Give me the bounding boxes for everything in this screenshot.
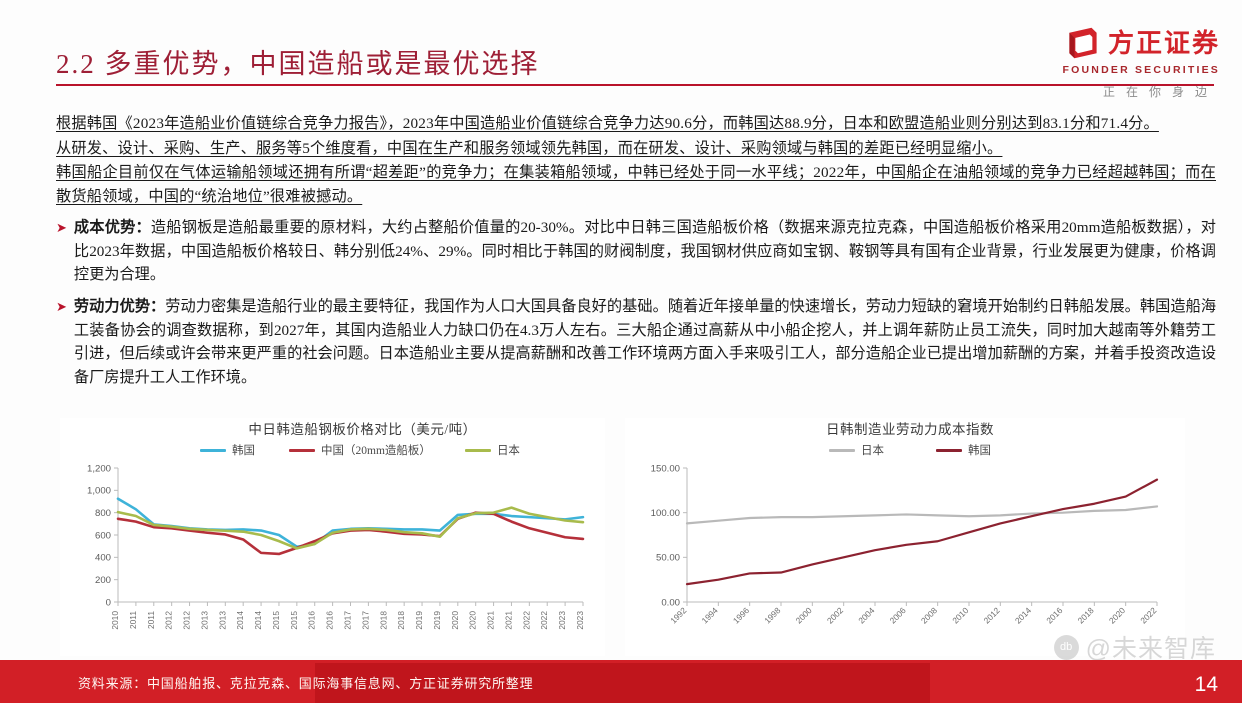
chart-shipplate-svg: 02004006008001,0001,20020102011201120122… bbox=[60, 462, 605, 652]
svg-text:2019: 2019 bbox=[414, 611, 424, 630]
chart-shipplate-legend: 韩国 中国（20mm造船板） 日本 bbox=[60, 442, 605, 458]
svg-text:150.00: 150.00 bbox=[651, 463, 680, 474]
bullet-labor-advantage-lead: 劳动力优势： bbox=[74, 298, 165, 315]
legend-swatch-japan bbox=[465, 449, 491, 452]
bullet-arrow-icon-2: ➤ bbox=[56, 295, 67, 389]
svg-text:2016: 2016 bbox=[307, 611, 317, 630]
svg-text:2023: 2023 bbox=[557, 611, 567, 630]
svg-text:1,000: 1,000 bbox=[87, 486, 111, 497]
founder-logo-icon bbox=[1066, 26, 1100, 60]
svg-text:2015: 2015 bbox=[271, 611, 281, 630]
legend-swatch-korea-labor bbox=[936, 449, 962, 452]
svg-text:2008: 2008 bbox=[919, 605, 939, 625]
svg-text:2018: 2018 bbox=[378, 611, 388, 630]
chart-labor-plot: 0.0050.00100.00150.001992199419961998200… bbox=[625, 462, 1185, 652]
legend-label-korea-labor: 韩国 bbox=[968, 442, 991, 458]
svg-text:2016: 2016 bbox=[1044, 605, 1064, 625]
chart-labor-svg: 0.0050.00100.00150.001992199419961998200… bbox=[625, 462, 1185, 652]
svg-text:2012: 2012 bbox=[182, 611, 192, 630]
page-title: 2.2 多重优势，中国造船或是最优选择 bbox=[56, 42, 540, 81]
svg-text:2018: 2018 bbox=[1075, 605, 1095, 625]
svg-text:2021: 2021 bbox=[503, 611, 513, 630]
chart-labor-cost: 日韩制造业劳动力成本指数 日本 韩国 0.0050.00100.00150.00… bbox=[625, 418, 1185, 656]
legend-item-japan-labor: 日本 bbox=[829, 442, 884, 458]
svg-text:2017: 2017 bbox=[360, 611, 370, 630]
svg-text:2020: 2020 bbox=[468, 611, 478, 630]
svg-text:1994: 1994 bbox=[699, 605, 719, 625]
svg-text:100.00: 100.00 bbox=[651, 508, 680, 519]
svg-text:2014: 2014 bbox=[1013, 605, 1033, 625]
svg-text:2015: 2015 bbox=[289, 611, 299, 630]
bullet-arrow-icon: ➤ bbox=[56, 216, 67, 287]
legend-label-japan-labor: 日本 bbox=[861, 442, 884, 458]
paragraph-competitiveness-report: 根据韩国《2023年造船业价值链综合竞争力报告》，2023年中国造船业价值链综合… bbox=[56, 112, 1216, 136]
svg-text:0: 0 bbox=[106, 597, 111, 608]
paragraph-five-dimensions: 从研发、设计、采购、生产、服务等5个维度看，中国在生产和服务领域领先韩国，而在研… bbox=[56, 137, 1216, 161]
bullet-cost-advantage-lead: 成本优势： bbox=[74, 219, 151, 236]
chart-labor-title: 日韩制造业劳动力成本指数 bbox=[625, 418, 1185, 438]
paragraph-segment-competition: 韩国船企目前仅在气体运输船领域还拥有所谓“超差距”的竞争力；在集装箱船领域，中韩… bbox=[56, 161, 1216, 208]
legend-item-korea: 韩国 bbox=[200, 442, 255, 458]
svg-text:2023: 2023 bbox=[575, 611, 585, 630]
svg-text:1,200: 1,200 bbox=[87, 463, 111, 474]
svg-text:2013: 2013 bbox=[199, 611, 209, 630]
bullet-cost-advantage-body: 成本优势：造船钢板是造船最重要的原材料，大约占整船价值量的20-30%。对比中日… bbox=[74, 216, 1216, 287]
svg-text:2013: 2013 bbox=[217, 611, 227, 630]
slide-header: 2.2 多重优势，中国造船或是最优选择 方正证券 FOUNDER SECURIT… bbox=[0, 0, 1242, 96]
svg-text:50.00: 50.00 bbox=[656, 553, 680, 564]
legend-item-korea-labor: 韩国 bbox=[936, 442, 991, 458]
chart-labor-legend: 日本 韩国 bbox=[625, 442, 1185, 458]
bullet-labor-advantage-body: 劳动力优势：劳动力密集是造船行业的最主要特征，我国作为人口大国具备良好的基础。随… bbox=[74, 295, 1216, 389]
svg-text:200: 200 bbox=[95, 575, 111, 586]
svg-text:2017: 2017 bbox=[343, 611, 353, 630]
svg-text:2022: 2022 bbox=[539, 611, 549, 630]
legend-swatch-china bbox=[289, 449, 315, 452]
legend-item-china: 中国（20mm造船板） bbox=[289, 442, 431, 458]
svg-text:2014: 2014 bbox=[253, 611, 263, 630]
svg-text:0.00: 0.00 bbox=[661, 597, 680, 608]
svg-text:2000: 2000 bbox=[793, 605, 813, 625]
body-content: 根据韩国《2023年造船业价值链综合竞争力报告》，2023年中国造船业价值链综合… bbox=[56, 112, 1216, 389]
svg-text:2010: 2010 bbox=[110, 611, 120, 630]
svg-text:2020: 2020 bbox=[450, 611, 460, 630]
slide-root: 2.2 多重优势，中国造船或是最优选择 方正证券 FOUNDER SECURIT… bbox=[0, 0, 1242, 703]
legend-item-japan: 日本 bbox=[465, 442, 520, 458]
title-underline-rule bbox=[56, 84, 1214, 86]
legend-swatch-korea bbox=[200, 449, 226, 452]
logo-chinese-name: 方正证券 bbox=[1108, 30, 1220, 56]
svg-text:2018: 2018 bbox=[396, 611, 406, 630]
bullet-labor-advantage: ➤ 劳动力优势：劳动力密集是造船行业的最主要特征，我国作为人口大国具备良好的基础… bbox=[56, 295, 1216, 389]
svg-text:2011: 2011 bbox=[128, 611, 138, 629]
svg-text:1998: 1998 bbox=[762, 605, 782, 625]
legend-swatch-japan-labor bbox=[829, 449, 855, 452]
bullet-cost-advantage: ➤ 成本优势：造船钢板是造船最重要的原材料，大约占整船价值量的20-30%。对比… bbox=[56, 216, 1216, 287]
bullet-cost-advantage-text: 造船钢板是造船最重要的原材料，大约占整船价值量的20-30%。对比中日韩三国造船… bbox=[74, 219, 1216, 283]
svg-text:2020: 2020 bbox=[1107, 605, 1127, 625]
svg-text:2012: 2012 bbox=[164, 611, 174, 630]
chart-shipplate-price: 中日韩造船钢板价格对比（美元/吨） 韩国 中国（20mm造船板） 日本 0200… bbox=[60, 418, 605, 656]
chart-shipplate-title: 中日韩造船钢板价格对比（美元/吨） bbox=[60, 418, 605, 438]
svg-text:400: 400 bbox=[95, 553, 111, 564]
page-number: 14 bbox=[1195, 673, 1218, 697]
logo-english-name: FOUNDER SECURITIES bbox=[1063, 64, 1220, 76]
svg-text:2022: 2022 bbox=[521, 611, 531, 630]
svg-text:2011: 2011 bbox=[146, 611, 156, 629]
svg-text:2010: 2010 bbox=[950, 605, 970, 625]
bullet-labor-advantage-text: 劳动力密集是造船行业的最主要特征，我国作为人口大国具备良好的基础。随着近年接单量… bbox=[74, 298, 1216, 386]
svg-text:600: 600 bbox=[95, 530, 111, 541]
svg-text:2019: 2019 bbox=[432, 611, 442, 630]
brand-logo: 方正证券 FOUNDER SECURITIES 正在你身边 bbox=[1063, 26, 1220, 100]
svg-text:2022: 2022 bbox=[1138, 605, 1158, 625]
footer-source-text: 资料来源：中国船舶报、克拉克森、国际海事信息网、方正证券研究所整理 bbox=[78, 673, 533, 692]
svg-text:2006: 2006 bbox=[887, 605, 907, 625]
svg-text:2014: 2014 bbox=[235, 611, 245, 630]
svg-text:2012: 2012 bbox=[981, 605, 1001, 625]
svg-text:1996: 1996 bbox=[731, 605, 751, 625]
logo-tagline: 正在你身边 bbox=[1063, 83, 1220, 100]
svg-text:2021: 2021 bbox=[486, 611, 496, 630]
legend-label-china: 中国（20mm造船板） bbox=[321, 442, 431, 458]
legend-label-korea: 韩国 bbox=[232, 442, 255, 458]
logo-row: 方正证券 bbox=[1063, 26, 1220, 60]
legend-label-japan: 日本 bbox=[497, 442, 520, 458]
svg-text:2016: 2016 bbox=[325, 611, 335, 630]
svg-text:2002: 2002 bbox=[825, 605, 845, 625]
chart-shipplate-plot: 02004006008001,0001,20020102011201120122… bbox=[60, 462, 605, 652]
svg-text:2004: 2004 bbox=[856, 605, 876, 625]
svg-text:800: 800 bbox=[95, 508, 111, 519]
